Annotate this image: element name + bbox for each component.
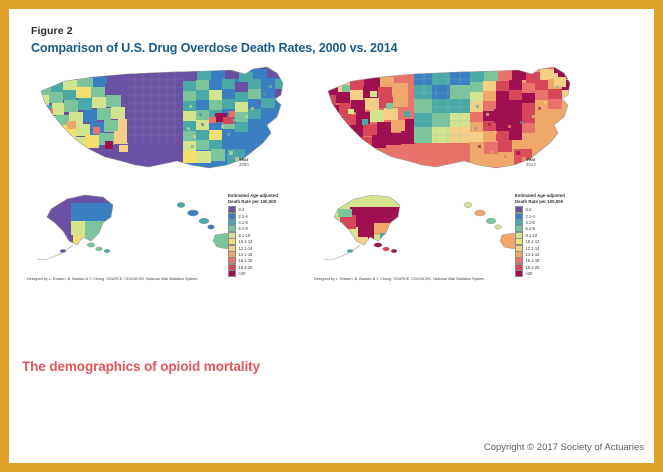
legend-title-line2: Death Rate per 100,000 <box>515 199 601 205</box>
section-heading: The demographics of opioid mortality <box>22 359 260 374</box>
legend-label: 14.1-16 <box>239 252 253 257</box>
legend-label: 18.1-20 <box>526 265 540 270</box>
legend-label: 4.1-6 <box>239 220 248 225</box>
legend-label: 12.1-14 <box>526 246 540 251</box>
year-value: 2014 <box>526 162 536 167</box>
map-canvas-2014: Year 2014 Estimated Age-adjusted Death R… <box>310 61 605 293</box>
alaska-inset-2014 <box>320 179 420 267</box>
legend-label: 2.1-4 <box>526 214 535 219</box>
map-canvas-2000: Year 2000 Estimated Age-adjusted Death R… <box>23 61 318 293</box>
map-credit-2014: Designed by L. Rossen, B. Bastian & Y. C… <box>314 277 485 281</box>
legend-title-line2: Death Rate per 100,000 <box>228 199 314 205</box>
legend-swatch <box>228 270 236 277</box>
year-annotation-2000: Year 2000 <box>239 157 249 167</box>
legend-label: 2.1-4 <box>239 214 248 219</box>
footer-copyright: Copyright © 2017 Society of Actuaries <box>484 442 644 453</box>
legend-row: >20 <box>228 271 314 277</box>
legend-label: 16.1-18 <box>239 258 253 263</box>
legend-label: 0-2 <box>239 207 245 212</box>
legend-label: 8.1-10 <box>526 233 538 238</box>
legend-label: 8.1-10 <box>239 233 251 238</box>
figure-page: Figure 2 Comparison of U.S. Drug Overdos… <box>0 0 663 472</box>
legend-label: 4.1-6 <box>526 220 535 225</box>
page-title: Comparison of U.S. Drug Overdose Death R… <box>31 41 397 55</box>
legend-label: 10.1-12 <box>526 239 540 244</box>
legend-label: 16.1-18 <box>526 258 540 263</box>
legend-2014: Estimated Age-adjusted Death Rate per 10… <box>515 193 601 277</box>
year-annotation-2014: Year 2014 <box>526 157 536 167</box>
legend-row: >20 <box>515 271 601 277</box>
legend-label: >20 <box>526 271 533 276</box>
us-mainland-map-2000 <box>31 65 293 173</box>
legend-label: 6.1-8 <box>526 226 535 231</box>
figure-label: Figure 2 <box>31 25 73 37</box>
legend-label: 6.1-8 <box>239 226 248 231</box>
legend-2000: Estimated Age-adjusted Death Rate per 10… <box>228 193 314 277</box>
legend-label: 0-2 <box>526 207 532 212</box>
map-credit-2000: Designed by L. Rossen, B. Bastian & Y. C… <box>27 277 198 281</box>
legend-swatch <box>515 270 523 277</box>
legend-label: >20 <box>239 271 246 276</box>
us-mainland-map-2014 <box>318 65 580 173</box>
year-value: 2000 <box>239 162 249 167</box>
alaska-inset-2000 <box>33 179 133 267</box>
legend-label: 10.1-12 <box>239 239 253 244</box>
legend-label: 14.1-16 <box>526 252 540 257</box>
map-panel-2014: Year 2014 Estimated Age-adjusted Death R… <box>310 61 605 293</box>
legend-label: 12.1-14 <box>239 246 253 251</box>
map-panel-2000: Year 2000 Estimated Age-adjusted Death R… <box>23 61 318 293</box>
legend-label: 18.1-20 <box>239 265 253 270</box>
legend-title: Estimated Age-adjusted Death Rate per 10… <box>228 193 314 205</box>
legend-title: Estimated Age-adjusted Death Rate per 10… <box>515 193 601 205</box>
page-sheet: Figure 2 Comparison of U.S. Drug Overdos… <box>9 9 654 463</box>
